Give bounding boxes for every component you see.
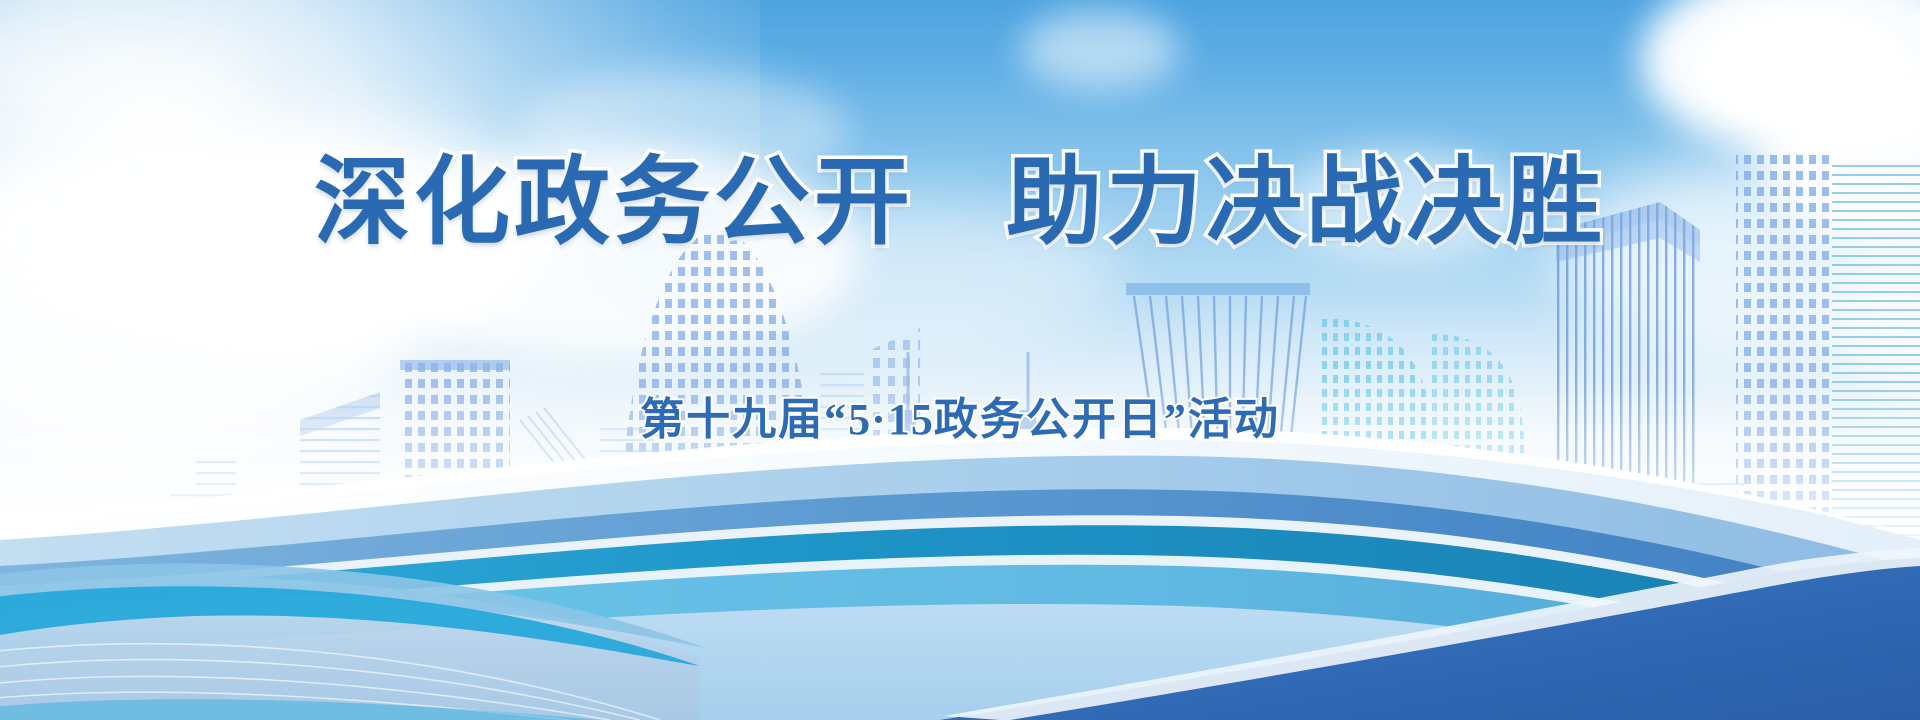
subtitle-separator: · — [871, 395, 888, 444]
page-title: 深化政务公开助力决战决胜 — [0, 148, 1920, 258]
subtitle-date-day: 15 — [888, 395, 934, 444]
subtitle-quote-close: ” — [1164, 395, 1188, 444]
headline-left: 深化政务公开 — [314, 149, 914, 256]
subtitle-suffix: 活动 — [1188, 395, 1280, 444]
cloud-topright-c — [1700, 10, 1910, 130]
banner-root: 深化政务公开助力决战决胜 第十九届“5·15政务公开日”活动 — [0, 0, 1920, 720]
subtitle-quote-open: “ — [824, 395, 848, 444]
headline-right: 助力决战决胜 — [1006, 149, 1606, 256]
subtitle-event: 政务公开日 — [934, 395, 1164, 444]
cloud-right-small — [1020, 10, 1180, 90]
subtitle-date-month: 5 — [848, 395, 871, 444]
page-subtitle: 第十九届“5·15政务公开日”活动 — [0, 392, 1920, 448]
subtitle-prefix: 第十九届 — [640, 395, 824, 444]
